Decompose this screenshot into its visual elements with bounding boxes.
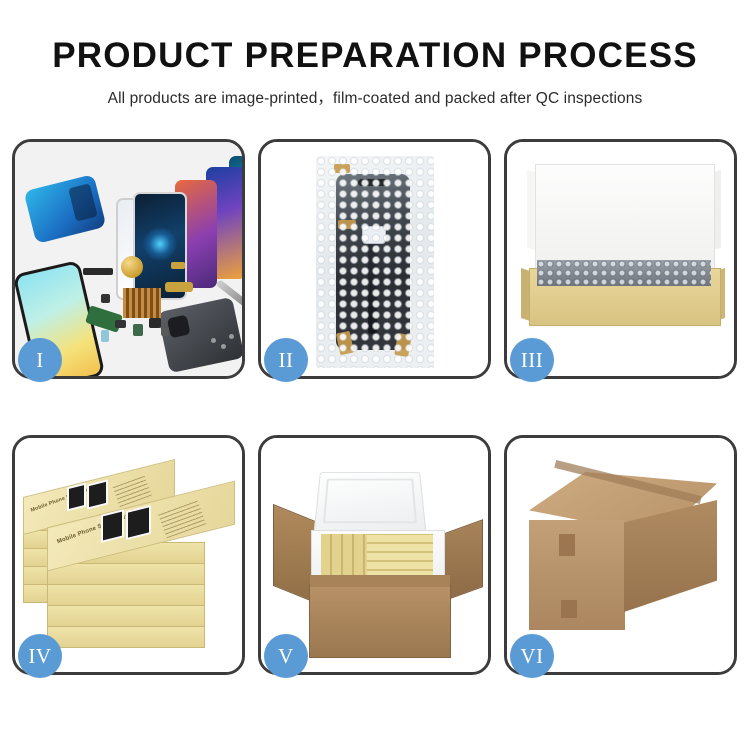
step-3-badge: III [510, 338, 554, 382]
connector-bar-part [83, 268, 113, 275]
page-header: PRODUCT PREPARATION PROCESS All products… [0, 0, 750, 108]
small-part [101, 330, 109, 342]
small-part [101, 294, 110, 303]
process-step-3: III [504, 139, 737, 379]
step-2-badge: II [264, 338, 308, 382]
flex-strip-part [165, 282, 193, 292]
small-part [149, 318, 161, 328]
process-step-4: Mobile Phone Spare Parts Mobile Phone Sp… [12, 435, 245, 675]
page-title: PRODUCT PREPARATION PROCESS [0, 38, 750, 75]
process-step-2: II [258, 139, 491, 379]
bubble-texture [537, 260, 711, 286]
bubble-wrapped-contents [537, 260, 711, 286]
small-part [171, 262, 185, 269]
tape-patch-lower [561, 600, 577, 618]
packed-boxes-row-b [367, 534, 433, 578]
page-subtitle: All products are image-printed，film-coat… [0, 86, 750, 108]
process-step-5: V [258, 435, 491, 675]
small-part [115, 320, 126, 328]
carton-front-face [529, 520, 625, 630]
box-lid [535, 164, 715, 274]
step-5-badge: V [264, 634, 308, 678]
small-part [161, 328, 169, 336]
process-step-1: I [12, 139, 245, 379]
process-step-grid: I II [12, 139, 738, 675]
chip-grid-part [123, 288, 161, 318]
step-6-badge: VI [510, 634, 554, 678]
small-part [133, 324, 143, 336]
process-step-6: VI [504, 435, 737, 675]
styrofoam-lid [314, 472, 427, 532]
step-4-badge: IV [18, 634, 62, 678]
box-window-b [87, 479, 108, 509]
carton-body [309, 584, 451, 658]
box-window-a [67, 483, 86, 512]
speaker-coil-part [121, 256, 143, 278]
box-window-c [101, 509, 124, 543]
step-1-badge: I [18, 338, 62, 382]
bubble-texture [316, 156, 434, 368]
tape-patch-upper [559, 534, 575, 556]
adhesive-frame-graphic [24, 174, 107, 244]
bubble-wrap-bag [316, 156, 434, 368]
